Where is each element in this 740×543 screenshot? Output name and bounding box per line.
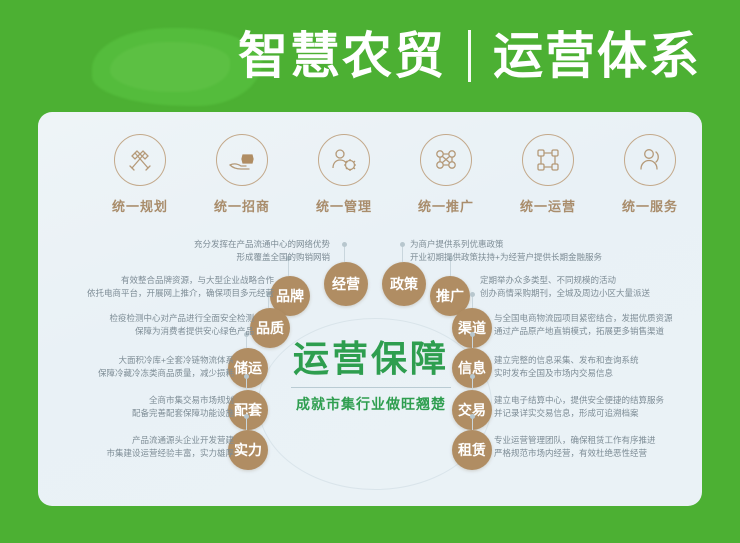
node-pinzhi[interactable]: 品质: [250, 308, 290, 348]
desc-pinpai-line1: 有效整合品牌资源，与大型企业战略合作: [50, 274, 274, 287]
top-icon-label-5: 统一运营: [496, 196, 600, 215]
node-jingying[interactable]: 经营: [324, 262, 368, 306]
desc-xinxi-line2: 实时发布全国及市场内交易信息: [494, 367, 720, 380]
dot-xinxi: [470, 332, 475, 337]
top-icon-item-2[interactable]: 统一招商: [190, 134, 294, 215]
node-shili[interactable]: 实力: [228, 430, 268, 470]
node-zhengce[interactable]: 政策: [382, 262, 426, 306]
desc-peitao: 全商市集交易市场规划 配备完善配套保障功能设施: [48, 394, 234, 420]
desc-tuiguang-line2: 创办商情采购期刊，全城及周边小区大量派送: [480, 287, 716, 300]
desc-chuyun-line2: 保障冷藏冷冻类商品质量，减少损耗: [48, 367, 234, 380]
title-group: 智慧农贸 运营体系: [238, 26, 701, 86]
node-chuyun[interactable]: 储运: [228, 348, 268, 388]
desc-xinxi-line1: 建立完整的信息采集、发布和查询系统: [494, 354, 720, 367]
desc-zhengce: 为商户提供系列优惠政策 开业初期提供政策扶持+为经营户提供长期金融服务: [410, 238, 670, 264]
infographic-root: 智慧农贸 运营体系 统一规划 统一: [0, 0, 740, 543]
top-icon-item-6[interactable]: 统一服务: [598, 134, 702, 215]
title-main: 智慧农贸: [238, 26, 446, 86]
stem-qudao: [472, 296, 473, 308]
user-service-icon: [624, 134, 676, 186]
dot-zhengce: [400, 242, 405, 247]
stem-jiaoyi: [472, 378, 473, 390]
desc-shili-line2: 市集建设运营经验丰富，实力雄厚: [48, 447, 234, 460]
hand-merchant-icon: [216, 134, 268, 186]
desc-peitao-line1: 全商市集交易市场规划: [48, 394, 234, 407]
top-icon-label-6: 统一服务: [598, 196, 702, 215]
node-zulin[interactable]: 租赁: [452, 430, 492, 470]
header-banner: 智慧农贸 运营体系: [0, 0, 740, 112]
user-gear-icon: [318, 134, 370, 186]
decorative-blob: [92, 28, 262, 106]
top-icon-item-4[interactable]: 统一推广: [394, 134, 498, 215]
dot-jingying: [342, 242, 347, 247]
center-title: 运营保障: [276, 338, 466, 380]
top-icon-label-1: 统一规划: [88, 196, 192, 215]
desc-zulin-line1: 专业运营管理团队，确保租赁工作有序推进: [494, 434, 726, 447]
desc-zulin: 专业运营管理团队，确保租赁工作有序推进 严格规范市场内经营，有效杜绝恶性经营: [494, 434, 726, 460]
dot-zulin: [470, 414, 475, 419]
center-block: 运营保障 成就市集行业做旺翘楚: [276, 338, 466, 414]
desc-zhengce-line1: 为商户提供系列优惠政策: [410, 238, 670, 251]
dot-shili: [244, 414, 249, 419]
desc-shili: 产品流通源头企业开发营建 市集建设运营经验丰富，实力雄厚: [48, 434, 234, 460]
desc-qudao-line2: 通过产品原产地直销模式，拓展更多销售渠道: [494, 325, 730, 338]
desc-qudao-line1: 与全国电商物流园项目紧密结合，发掘优质资源: [494, 312, 730, 325]
stem-zhengce: [402, 246, 403, 262]
stem-xinxi: [472, 336, 473, 348]
stem-shili: [246, 418, 247, 430]
desc-tuiguang: 定期举办众多类型、不同规模的活动 创办商情采购期刊，全城及周边小区大量派送: [480, 274, 716, 300]
top-icon-label-2: 统一招商: [190, 196, 294, 215]
stem-peitao: [246, 378, 247, 390]
desc-pinpai-line2: 依托电商平台，开展网上推介，确保项目多元经营: [50, 287, 274, 300]
megaphone-network-icon: [420, 134, 472, 186]
top-icon-item-3[interactable]: 统一管理: [292, 134, 396, 215]
stem-jingying: [344, 246, 345, 262]
top-icon-item-5[interactable]: 统一运营: [496, 134, 600, 215]
desc-chuyun: 大面积冷库+全套冷链物流体系 保障冷藏冷冻类商品质量，减少损耗: [48, 354, 234, 380]
pencil-ruler-icon: [114, 134, 166, 186]
desc-jingying-line1: 充分发挥在产品流通中心的网络优势: [120, 238, 330, 251]
center-subtitle: 成就市集行业做旺翘楚: [276, 394, 466, 414]
desc-jiaoyi-line1: 建立电子结算中心，提供安全便捷的结算服务: [494, 394, 726, 407]
desc-pinpai: 有效整合品牌资源，与大型企业战略合作 依托电商平台，开展网上推介，确保项目多元经…: [50, 274, 274, 300]
title-divider: [468, 30, 471, 82]
desc-jiaoyi: 建立电子结算中心，提供安全便捷的结算服务 并记录详实交易信息，形成可追溯档案: [494, 394, 726, 420]
desc-zulin-line2: 严格规范市场内经营，有效杜绝恶性经营: [494, 447, 726, 460]
dot-jiaoyi: [470, 374, 475, 379]
desc-tuiguang-line1: 定期举办众多类型、不同规模的活动: [480, 274, 716, 287]
top-icon-label-3: 统一管理: [292, 196, 396, 215]
dot-peitao: [244, 374, 249, 379]
top-icon-item-1[interactable]: 统一规划: [88, 134, 192, 215]
title-sub: 运营体系: [493, 26, 701, 86]
desc-shili-line1: 产品流通源头企业开发营建: [48, 434, 234, 447]
top-icon-row: 统一规划 统一招商 统一管理: [38, 134, 702, 230]
desc-chuyun-line1: 大面积冷库+全套冷链物流体系: [48, 354, 234, 367]
desc-jiaoyi-line2: 并记录详实交易信息，形成可追溯档案: [494, 407, 726, 420]
desc-pinzhi-line1: 检疫检测中心对产品进行全面安全检测: [48, 312, 254, 325]
desc-pinzhi: 检疫检测中心对产品进行全面安全检测 保障为消费者提供安心绿色产品: [48, 312, 254, 338]
desc-peitao-line2: 配备完善配套保障功能设施: [48, 407, 234, 420]
network-nodes-icon: [522, 134, 574, 186]
desc-pinzhi-line2: 保障为消费者提供安心绿色产品: [48, 325, 254, 338]
center-divider: [291, 387, 451, 388]
desc-jingying-line2: 形成覆盖全国的购销网销: [120, 251, 330, 264]
desc-zhengce-line2: 开业初期提供政策扶持+为经营户提供长期金融服务: [410, 251, 670, 264]
stem-zulin: [472, 418, 473, 430]
desc-xinxi: 建立完整的信息采集、发布和查询系统 实时发布全国及市场内交易信息: [494, 354, 720, 380]
top-icon-label-4: 统一推广: [394, 196, 498, 215]
desc-qudao: 与全国电商物流园项目紧密结合，发掘优质资源 通过产品原产地直销模式，拓展更多销售…: [494, 312, 730, 338]
node-peitao[interactable]: 配套: [228, 390, 268, 430]
desc-jingying: 充分发挥在产品流通中心的网络优势 形成覆盖全国的购销网销: [120, 238, 330, 264]
dot-qudao: [470, 292, 475, 297]
